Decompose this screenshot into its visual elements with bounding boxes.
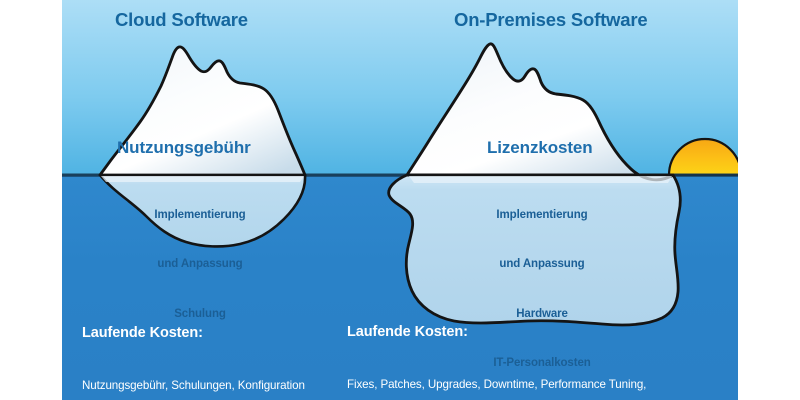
right-footer-line-0: Fixes, Patches, Upgrades, Downtime, Perf… bbox=[347, 377, 679, 393]
right-title: On-Premises Software bbox=[454, 9, 647, 31]
right-below-item-2: Hardware bbox=[432, 308, 652, 322]
right-below-item-1: und Anpassung bbox=[432, 258, 652, 272]
left-footer-body: Nutzungsgebühr, Schulungen, Konfiguratio… bbox=[82, 345, 305, 400]
left-below-item-1: und Anpassung bbox=[90, 258, 310, 272]
scene: Cloud Software Nutzungsgebühr Implementi… bbox=[62, 0, 738, 400]
left-below-item-2: Schulung bbox=[90, 308, 310, 322]
left-footer-line-0: Nutzungsgebühr, Schulungen, Konfiguratio… bbox=[82, 378, 305, 394]
right-above-label: Lizenzkosten bbox=[487, 138, 593, 158]
right-footer-body: Fixes, Patches, Upgrades, Downtime, Perf… bbox=[347, 344, 679, 400]
right-footer-heading: Laufende Kosten: bbox=[347, 324, 468, 341]
left-above-label: Nutzungsgebühr bbox=[117, 138, 251, 158]
right-below-item-0: Implementierung bbox=[432, 209, 652, 223]
left-footer-heading: Laufende Kosten: bbox=[82, 325, 203, 342]
infographic-canvas: Cloud Software Nutzungsgebühr Implementi… bbox=[0, 0, 800, 400]
left-title: Cloud Software bbox=[115, 9, 248, 31]
left-below-item-0: Implementierung bbox=[90, 209, 310, 223]
